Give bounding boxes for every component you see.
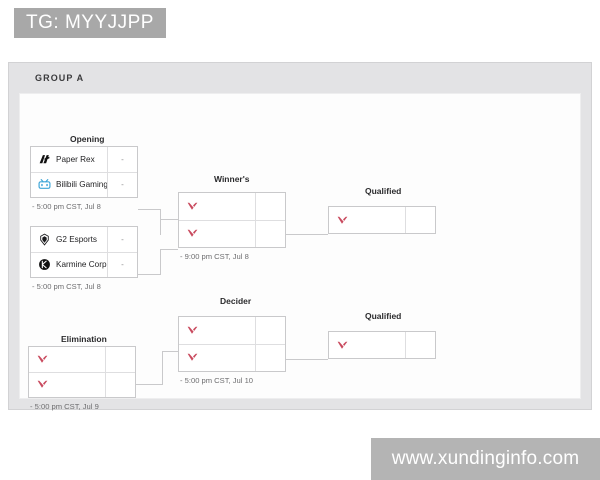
match-row[interactable]: G2 Esports - (31, 227, 137, 252)
valorant-placeholder-logo (186, 351, 199, 364)
match-time-opening-1: - 5:00 pm CST, Jul 8 (32, 202, 101, 211)
match-row[interactable]: Bilibili Gaming - (31, 172, 137, 198)
round-label-winners: Winner's (214, 174, 249, 184)
team-cell: Bilibili Gaming (31, 173, 107, 198)
connector-line (136, 384, 162, 385)
score-cell (255, 221, 285, 248)
url-text: www.xundinginfo.com (392, 448, 580, 470)
valorant-placeholder-logo (336, 214, 349, 227)
connector-line (285, 359, 328, 360)
url-banner: www.xundinginfo.com (371, 438, 600, 480)
match-qualified-upper[interactable] (328, 206, 436, 234)
round-label-elimination: Elimination (61, 334, 107, 344)
match-winners[interactable] (178, 192, 286, 248)
team-cell (179, 193, 255, 220)
team-cell (29, 347, 105, 372)
score-cell: - (107, 173, 137, 198)
karmine-corp-logo (38, 258, 51, 271)
round-label-qualified-lower: Qualified (365, 311, 401, 321)
match-row[interactable] (29, 347, 135, 372)
score-cell (255, 317, 285, 344)
connector-line (285, 234, 328, 235)
connector-line (160, 209, 161, 235)
match-opening-1[interactable]: Paper Rex - Bi (30, 146, 138, 198)
g2-esports-logo (38, 233, 51, 246)
match-row[interactable] (179, 193, 285, 220)
score-cell (405, 207, 435, 233)
screenshot-root: TG: MYYJJPP GROUP A Opening Winner's Qua… (0, 0, 600, 480)
valorant-placeholder-logo (36, 353, 49, 366)
match-opening-2[interactable]: G2 Esports - Karmine Corp - (30, 226, 138, 278)
match-row[interactable] (329, 332, 435, 358)
connector-line (138, 209, 160, 210)
connector-line (162, 351, 178, 352)
valorant-placeholder-logo (186, 200, 199, 213)
connector-line (138, 274, 160, 275)
team-cell (29, 373, 105, 398)
team-cell (179, 345, 255, 372)
round-label-decider: Decider (220, 296, 251, 306)
match-qualified-lower[interactable] (328, 331, 436, 359)
score-cell (255, 345, 285, 372)
team-cell: Karmine Corp (31, 253, 107, 278)
match-elimination[interactable] (28, 346, 136, 398)
connector-line (160, 249, 161, 275)
match-decider[interactable] (178, 316, 286, 372)
match-row[interactable]: Karmine Corp - (31, 252, 137, 278)
valorant-placeholder-logo (186, 227, 199, 240)
valorant-placeholder-logo (336, 339, 349, 352)
match-row[interactable]: Paper Rex - (31, 147, 137, 172)
valorant-placeholder-logo (186, 324, 199, 337)
match-row[interactable] (179, 220, 285, 248)
match-row[interactable] (29, 372, 135, 398)
valorant-placeholder-logo (36, 378, 49, 391)
score-cell: - (107, 147, 137, 172)
round-label-qualified-upper: Qualified (365, 186, 401, 196)
match-time-elimination: - 5:00 pm CST, Jul 9 (30, 402, 99, 411)
round-label-opening: Opening (70, 134, 104, 144)
connector-line (162, 351, 163, 385)
paper-rex-logo (38, 153, 51, 166)
match-time-opening-2: - 5:00 pm CST, Jul 8 (32, 282, 101, 291)
group-panel: GROUP A Opening Winner's Qualified Elimi… (8, 62, 592, 410)
match-row[interactable] (329, 207, 435, 233)
connector-line (160, 219, 178, 220)
score-cell (255, 193, 285, 220)
group-header: GROUP A (9, 63, 591, 93)
team-name: Bilibili Gaming (56, 180, 107, 189)
team-cell (179, 221, 255, 248)
team-cell: Paper Rex (31, 147, 107, 172)
team-name: G2 Esports (56, 235, 97, 244)
score-cell: - (107, 227, 137, 252)
team-cell: G2 Esports (31, 227, 107, 252)
score-cell (405, 332, 435, 358)
score-cell: - (107, 253, 137, 278)
match-row[interactable] (179, 317, 285, 344)
group-title: GROUP A (35, 73, 84, 83)
bilibili-gaming-logo (38, 178, 51, 191)
bracket-canvas: Opening Winner's Qualified Elimination D… (19, 93, 581, 399)
team-cell (179, 317, 255, 344)
team-cell (329, 332, 405, 358)
tg-overlay-label: TG: MYYJJPP (14, 8, 166, 38)
score-cell (105, 347, 135, 372)
match-row[interactable] (179, 344, 285, 372)
score-cell (105, 373, 135, 398)
team-name: Karmine Corp (56, 260, 107, 269)
team-name: Paper Rex (56, 155, 95, 164)
team-cell (329, 207, 405, 233)
match-time-winners: - 9:00 pm CST, Jul 8 (180, 252, 249, 261)
match-time-decider: - 5:00 pm CST, Jul 10 (180, 376, 253, 385)
connector-line (160, 249, 178, 250)
